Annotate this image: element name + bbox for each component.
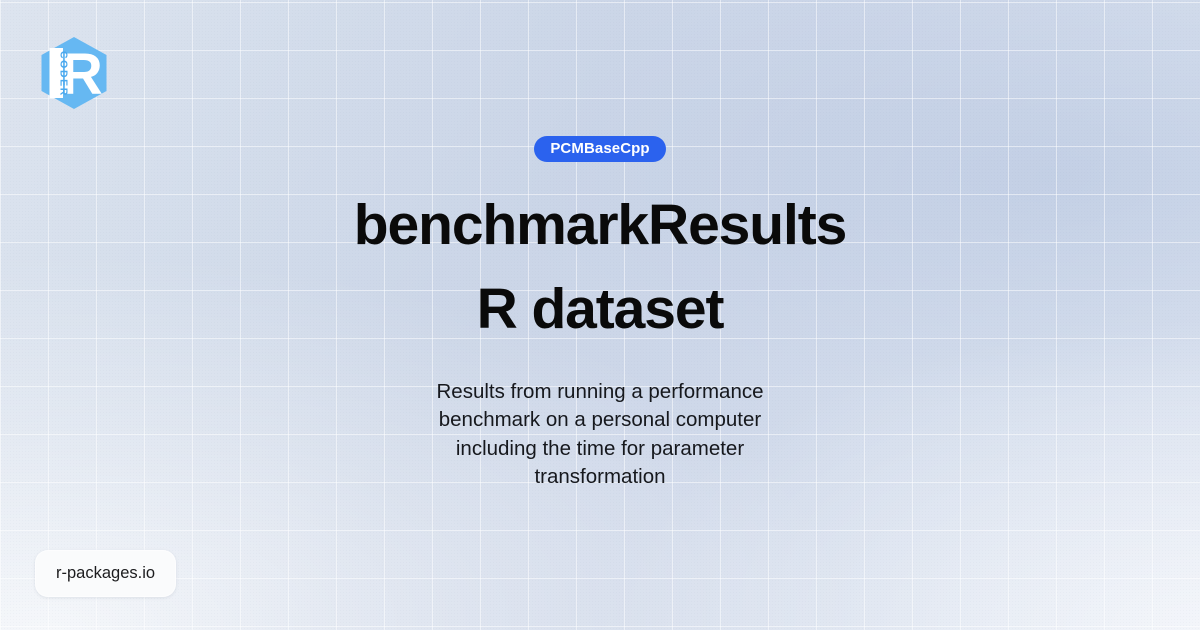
site-name-badge: r-packages.io — [35, 550, 176, 597]
page-title: benchmarkResults R dataset — [354, 183, 846, 351]
page-title-line-1: benchmarkResults — [354, 183, 846, 267]
og-card: R CODER PCMBaseCpp benchmarkResults R da… — [0, 0, 1200, 630]
page-title-line-2: R dataset — [354, 267, 846, 351]
card-content: PCMBaseCpp benchmarkResults R dataset Re… — [0, 0, 1200, 630]
page-description: Results from running a performance bench… — [410, 378, 790, 492]
package-name-badge: PCMBaseCpp — [534, 136, 665, 162]
